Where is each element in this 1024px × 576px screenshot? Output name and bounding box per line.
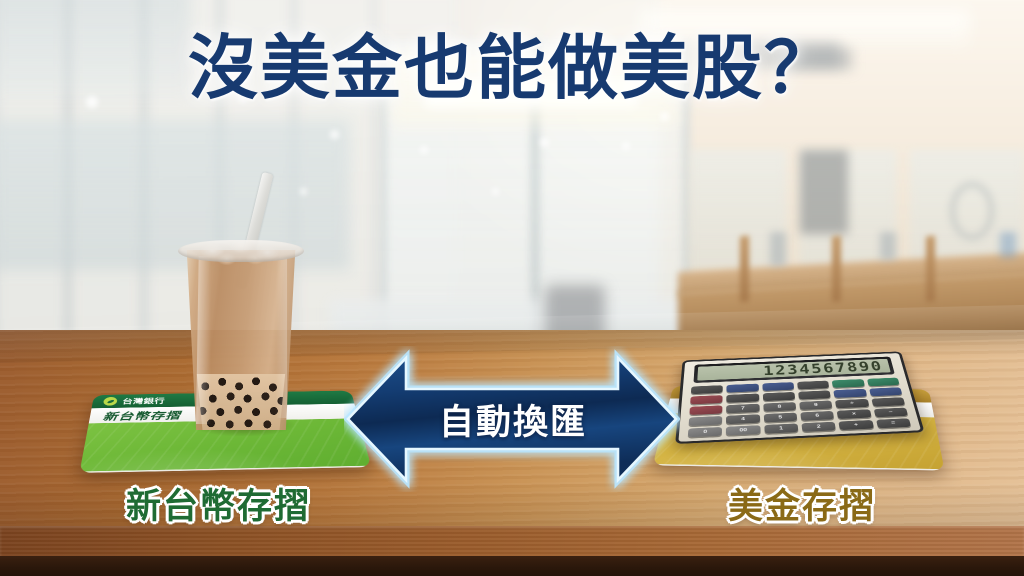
calculator-key-9[interactable]: 9 [799,400,833,409]
bokeh-light [660,112,669,121]
calculator-key[interactable] [834,389,867,398]
background-counter-divider-1 [740,236,749,302]
calculator-key-minus[interactable]: − [873,408,908,418]
promotional-banner: 台灣銀行 新台幣存摺 台灣銀行 美金存摺 123456 [0,0,1024,576]
background-counter-item-1 [770,232,786,266]
calculator-key[interactable] [689,405,722,415]
page-title: 沒美金也能做美股？ [0,33,1024,103]
background-counter-item-3 [1000,232,1016,258]
background-counter-divider-2 [832,236,841,302]
bokeh-light [330,130,339,139]
calculator-key[interactable] [798,390,831,399]
bank-logo-icon [103,397,118,406]
bokeh-light [540,138,549,147]
calculator-key[interactable] [762,382,794,391]
bokeh-light [300,188,307,195]
ntd-passbook-bank-name: 台灣銀行 [122,396,165,406]
bokeh-light [420,146,428,154]
usd-caption: 美金存摺 [728,478,876,529]
cup-highlight-right [276,258,287,418]
calculator-key-0[interactable]: 0 [688,427,723,437]
calculator-key-equals[interactable]: = [876,418,911,428]
calculator-key[interactable] [869,387,903,396]
bokeh-light [492,188,499,195]
calculator-key[interactable] [762,392,795,401]
calculator-key-divide[interactable]: ÷ [835,399,869,408]
table-front-edge [0,526,1024,558]
bokeh-light [622,142,630,150]
calculator-key-2[interactable]: 2 [801,422,836,432]
cup-rim [178,240,304,262]
calculator-key-multiply[interactable]: × [837,409,871,419]
bubble-tea-cup[interactable] [182,178,300,430]
background-teller-panel [800,150,848,234]
calculator-key[interactable] [867,378,900,387]
table-bottom-shadow [0,556,1024,576]
calculator-key[interactable] [691,385,723,394]
calculator-key[interactable] [871,397,905,406]
background-counter-item-2 [880,232,896,260]
calculator-key-double-zero[interactable]: 00 [726,425,760,435]
calculator-key[interactable] [689,416,723,426]
calculator-key-7[interactable]: 7 [726,404,759,414]
calculator-display-value: 1234567890 [763,359,885,379]
calculator-key-6[interactable]: 6 [800,411,834,421]
calculator-key-4[interactable]: 4 [726,414,760,424]
calculator-key-5[interactable]: 5 [763,413,797,423]
ntd-caption: 新台幣存摺 [126,478,311,529]
background-counter-divider-3 [926,236,935,302]
arrow-label: 自動換匯 [344,346,680,492]
calculator-key[interactable] [727,394,759,403]
background-wall-decal [950,182,994,240]
calculator-key-8[interactable]: 8 [763,402,796,412]
auto-exchange-arrow: 自動換匯 [344,346,680,492]
calculator-key[interactable] [797,381,829,390]
calculator-key[interactable] [690,395,723,404]
calculator-key-plus[interactable]: + [839,420,874,430]
calculator-key-1[interactable]: 1 [764,423,798,433]
calculator-key[interactable] [832,379,865,388]
desktop-calculator[interactable]: 1234567890 7 8 9 ÷ 4 5 6 × [675,351,924,444]
calculator-key[interactable] [727,384,759,393]
